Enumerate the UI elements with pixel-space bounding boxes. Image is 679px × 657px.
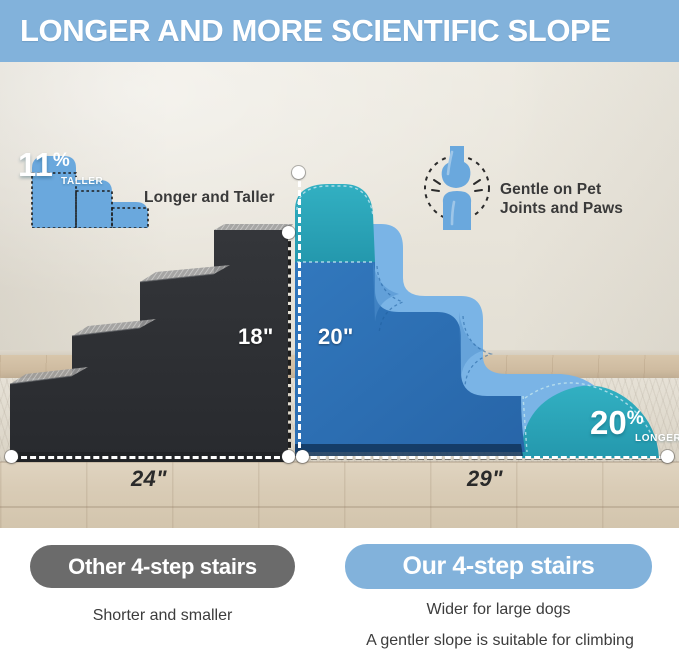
measure-label-other-height: 18" bbox=[238, 324, 274, 350]
product-comparison-scene: Longer and Taller Gentle on Pet Joints a… bbox=[0, 62, 679, 528]
measure-line-our-height bbox=[298, 172, 301, 457]
badge-taller: 11% TALLER bbox=[18, 150, 103, 187]
measure-dot-other-width-left bbox=[5, 450, 18, 463]
measure-line-our-width bbox=[302, 456, 665, 459]
badge-taller-number: 11 bbox=[18, 146, 53, 183]
measure-line-other-width bbox=[12, 456, 289, 459]
measure-label-our-height: 20" bbox=[318, 324, 354, 350]
foreground-floor bbox=[0, 462, 679, 528]
badge-taller-sub: TALLER bbox=[61, 176, 103, 187]
infographic-page: LONGER AND MORE SCIENTIFIC SLOPE Longer … bbox=[0, 0, 679, 657]
feature-label-longer-taller: Longer and Taller bbox=[144, 188, 275, 207]
badge-taller-symbol: % bbox=[53, 150, 70, 171]
our-product-caption-2: A gentler slope is suitable for climbing bbox=[335, 632, 665, 650]
header-banner: LONGER AND MORE SCIENTIFIC SLOPE bbox=[0, 0, 679, 62]
measure-line-other-height bbox=[288, 232, 291, 457]
badge-longer-sub: LONGER bbox=[635, 433, 679, 444]
comparison-footer: Other 4-step stairs Our 4-step stairs Sh… bbox=[0, 528, 679, 657]
measure-dot-our-width-left bbox=[296, 450, 309, 463]
page-title: LONGER AND MORE SCIENTIFIC SLOPE bbox=[20, 13, 611, 49]
badge-longer-number: 20 bbox=[590, 404, 627, 441]
other-product-pill[interactable]: Other 4-step stairs bbox=[30, 545, 295, 588]
measure-label-other-width: 24" bbox=[131, 466, 167, 492]
badge-longer-symbol: % bbox=[627, 408, 644, 429]
floor-seam-bottom bbox=[0, 506, 679, 508]
our-product-caption-1: Wider for large dogs bbox=[345, 601, 652, 619]
measure-dot-our-height-top bbox=[292, 166, 305, 179]
other-product-caption: Shorter and smaller bbox=[30, 607, 295, 625]
our-product-pill[interactable]: Our 4-step stairs bbox=[345, 544, 652, 589]
measure-dot-other-height-top bbox=[282, 226, 295, 239]
measure-dot-other-width-right bbox=[282, 450, 295, 463]
measure-dot-our-width-right bbox=[661, 450, 674, 463]
measure-label-our-width: 29" bbox=[467, 466, 503, 492]
badge-longer: 20% LONGER bbox=[590, 408, 679, 444]
